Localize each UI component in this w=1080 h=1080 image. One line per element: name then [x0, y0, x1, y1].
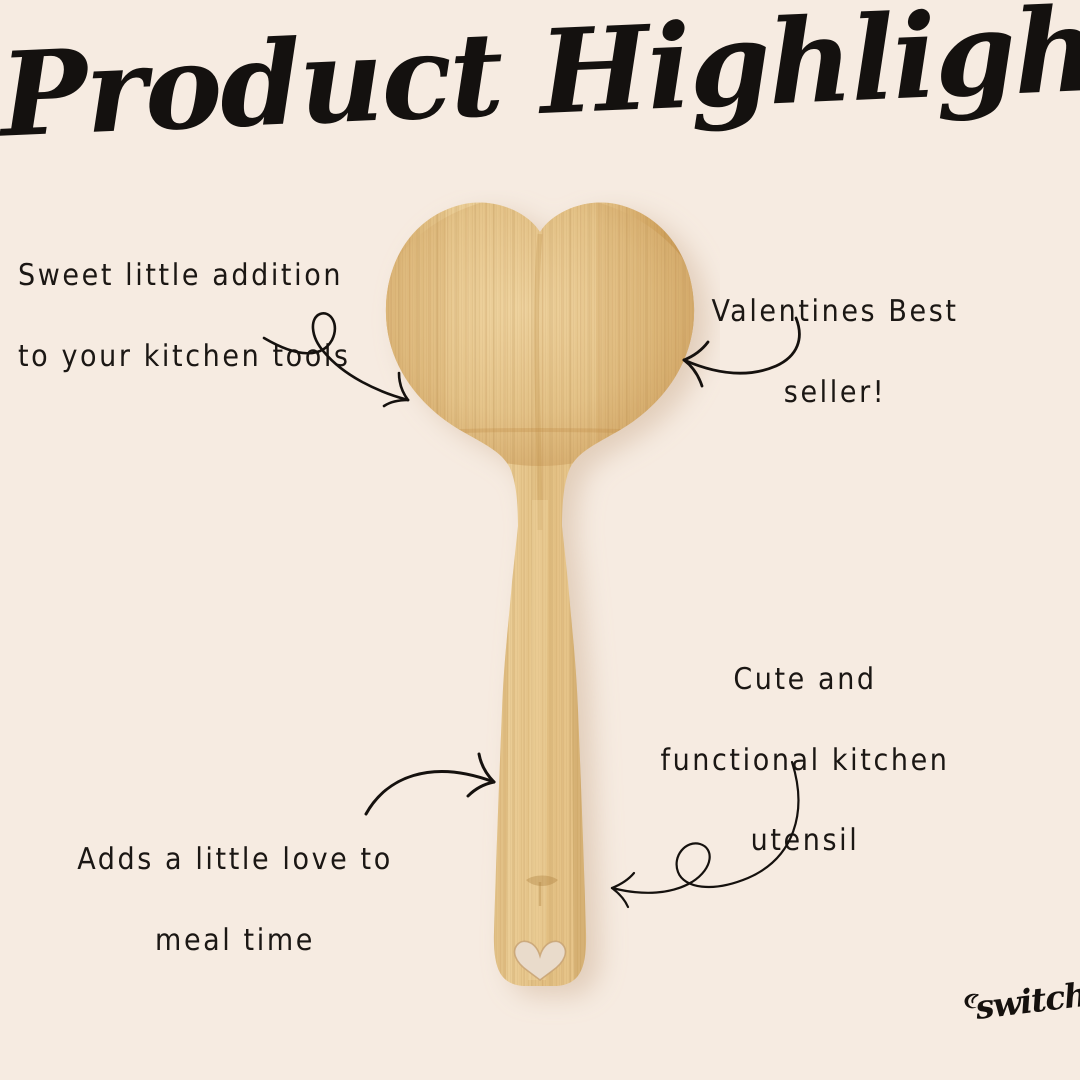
callout-line: seller!: [700, 373, 970, 413]
brand-logo-text: switch: [973, 975, 1080, 1027]
brand-logo[interactable]: switch: [962, 988, 1066, 1036]
page-title: Product Highlights: [0, 0, 1080, 155]
callout-line: to your kitchen tools: [18, 337, 438, 377]
callout-line: meal time: [40, 921, 430, 961]
callout-line: functional kitchen: [630, 741, 980, 781]
callout-line: Valentines Best: [700, 292, 970, 332]
callout-valentines-best-seller: Valentines Best seller!: [700, 252, 970, 453]
poster-canvas: Product Highlights: [0, 0, 1080, 1080]
callout-adds-a-little-love: Adds a little love to meal time: [40, 800, 430, 1001]
callout-line: Sweet little addition: [18, 256, 438, 296]
callout-line: utensil: [630, 821, 980, 861]
callout-line: Cute and: [630, 660, 980, 700]
callout-line: Adds a little love to: [40, 840, 430, 880]
callout-cute-and-functional: Cute and functional kitchen utensil: [630, 620, 980, 901]
callout-sweet-little-addition: Sweet little addition to your kitchen to…: [18, 216, 438, 417]
